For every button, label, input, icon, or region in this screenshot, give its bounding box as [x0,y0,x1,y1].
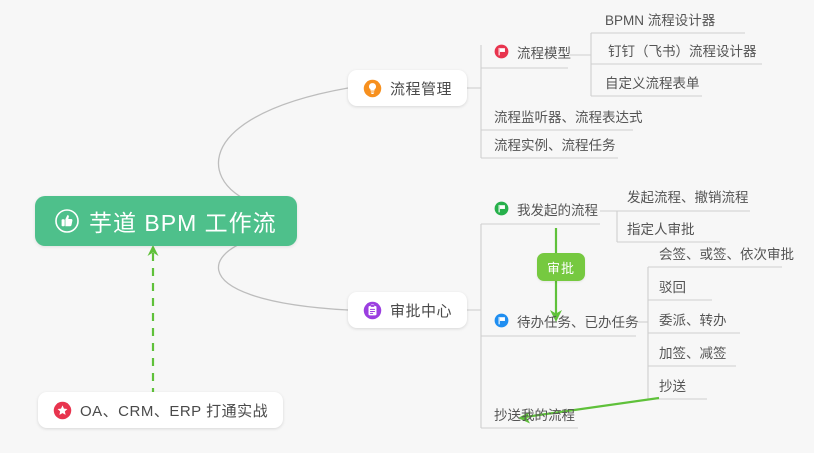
node-approval-center[interactable]: 审批中心 [348,292,467,328]
approval-badge[interactable]: 审批 [537,253,585,281]
flag-icon [494,201,509,216]
node-reject[interactable]: 驳回 [655,278,690,304]
node-add-remove-sign[interactable]: 加签、减签 [655,344,731,370]
flag-icon [494,44,509,59]
clipboard-icon [363,301,382,320]
node-custom-process-form-label: 自定义流程表单 [605,74,700,94]
node-start-cancel-label: 发起流程、撤销流程 [627,188,749,208]
node-custom-process-form[interactable]: 自定义流程表单 [601,74,704,100]
thumbs-up-icon [55,209,79,233]
star-icon [53,401,72,420]
node-reject-label: 驳回 [659,278,686,298]
lightbulb-icon [363,79,382,98]
node-instance-task-label: 流程实例、流程任务 [494,136,616,156]
node-countersign[interactable]: 会签、或签、依次审批 [655,245,798,271]
node-dingtalk-feishu-designer[interactable]: 钉钉（飞书）流程设计器 [604,42,761,68]
node-bpmn-designer-label: BPMN 流程设计器 [605,11,715,31]
mindmap-canvas: 芋道 BPM 工作流 流程管理 流程模型 BPMN 流程设计器 钉钉（飞书）流程 [0,0,814,453]
node-listener-expression[interactable]: 流程监听器、流程表达式 [490,108,647,134]
node-process-model[interactable]: 流程模型 [490,44,575,70]
node-process-management-label: 流程管理 [390,78,452,99]
node-delegate-transfer[interactable]: 委派、转办 [655,311,731,337]
node-start-cancel[interactable]: 发起流程、撤销流程 [623,188,753,214]
node-countersign-label: 会签、或签、依次审批 [659,245,794,265]
node-dingtalk-feishu-designer-label: 钉钉（飞书）流程设计器 [608,42,757,62]
root-label: 芋道 BPM 工作流 [89,204,277,238]
node-assignee-approval-label: 指定人审批 [627,220,695,240]
node-delegate-transfer-label: 委派、转办 [659,311,727,331]
edge-root-to-process-management [218,88,348,209]
node-process-model-label: 流程模型 [517,44,571,64]
node-bpmn-designer[interactable]: BPMN 流程设计器 [601,11,719,37]
node-my-initiated[interactable]: 我发起的流程 [490,201,602,227]
node-listener-expression-label: 流程监听器、流程表达式 [494,108,643,128]
node-integration-note-label: OA、CRM、ERP 打通实战 [80,400,268,421]
node-todo-done-tasks-label: 待办任务、已办任务 [517,313,639,333]
node-cc-to-me[interactable]: 抄送我的流程 [490,406,579,432]
node-assignee-approval[interactable]: 指定人审批 [623,220,699,246]
node-process-management[interactable]: 流程管理 [348,70,467,106]
node-cc-to-me-label: 抄送我的流程 [494,406,575,426]
arrow-head-integration-note-to-root [148,245,159,256]
node-my-initiated-label: 我发起的流程 [517,201,598,221]
node-todo-done-tasks[interactable]: 待办任务、已办任务 [490,313,643,339]
root-node[interactable]: 芋道 BPM 工作流 [35,196,297,246]
node-add-remove-sign-label: 加签、减签 [659,344,727,364]
flag-icon [494,313,509,328]
node-integration-note[interactable]: OA、CRM、ERP 打通实战 [38,392,283,428]
node-approval-center-label: 审批中心 [390,300,452,321]
node-cc[interactable]: 抄送 [655,377,690,403]
node-cc-label: 抄送 [659,377,686,397]
approval-badge-label: 审批 [547,258,575,277]
node-instance-task[interactable]: 流程实例、流程任务 [490,136,620,162]
